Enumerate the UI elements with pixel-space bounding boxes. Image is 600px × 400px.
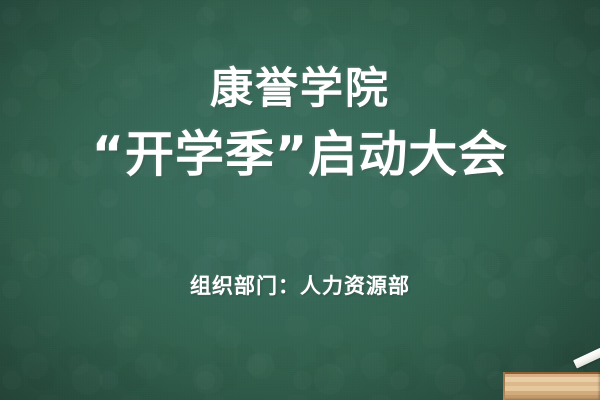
chalk-ledge-icon [503, 372, 600, 400]
slide-content: 康誉学院 “开学季”启动大会 组织部门：人力资源部 [0, 0, 600, 400]
slide-subtitle-organizing-department: 组织部门：人力资源部 [0, 276, 600, 297]
slide-title-line-2: “开学季”启动大会 [0, 130, 600, 179]
presentation-slide: 康誉学院 “开学季”启动大会 组织部门：人力资源部 [0, 0, 600, 400]
slide-title-line-1: 康誉学院 [0, 68, 600, 111]
